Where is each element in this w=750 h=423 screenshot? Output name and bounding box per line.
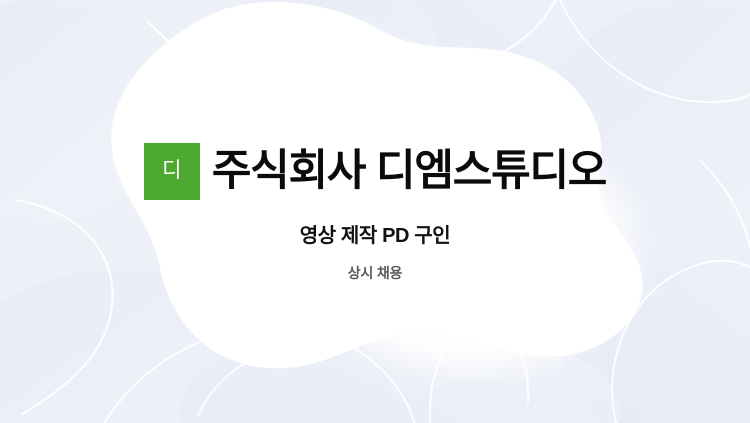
company-name: 주식회사 디엠스튜디오 (212, 150, 606, 193)
job-posting-banner: 디 주식회사 디엠스튜디오 영상 제작 PD 구인 상시 채용 (0, 0, 750, 423)
job-title: 영상 제작 PD 구인 (300, 226, 450, 246)
company-header: 디 주식회사 디엠스튜디오 (144, 140, 606, 202)
banner-content: 디 주식회사 디엠스튜디오 영상 제작 PD 구인 상시 채용 (0, 0, 750, 423)
company-initial-badge-icon: 디 (144, 143, 200, 200)
company-initial-text: 디 (162, 160, 181, 181)
employment-type: 상시 채용 (348, 266, 402, 280)
